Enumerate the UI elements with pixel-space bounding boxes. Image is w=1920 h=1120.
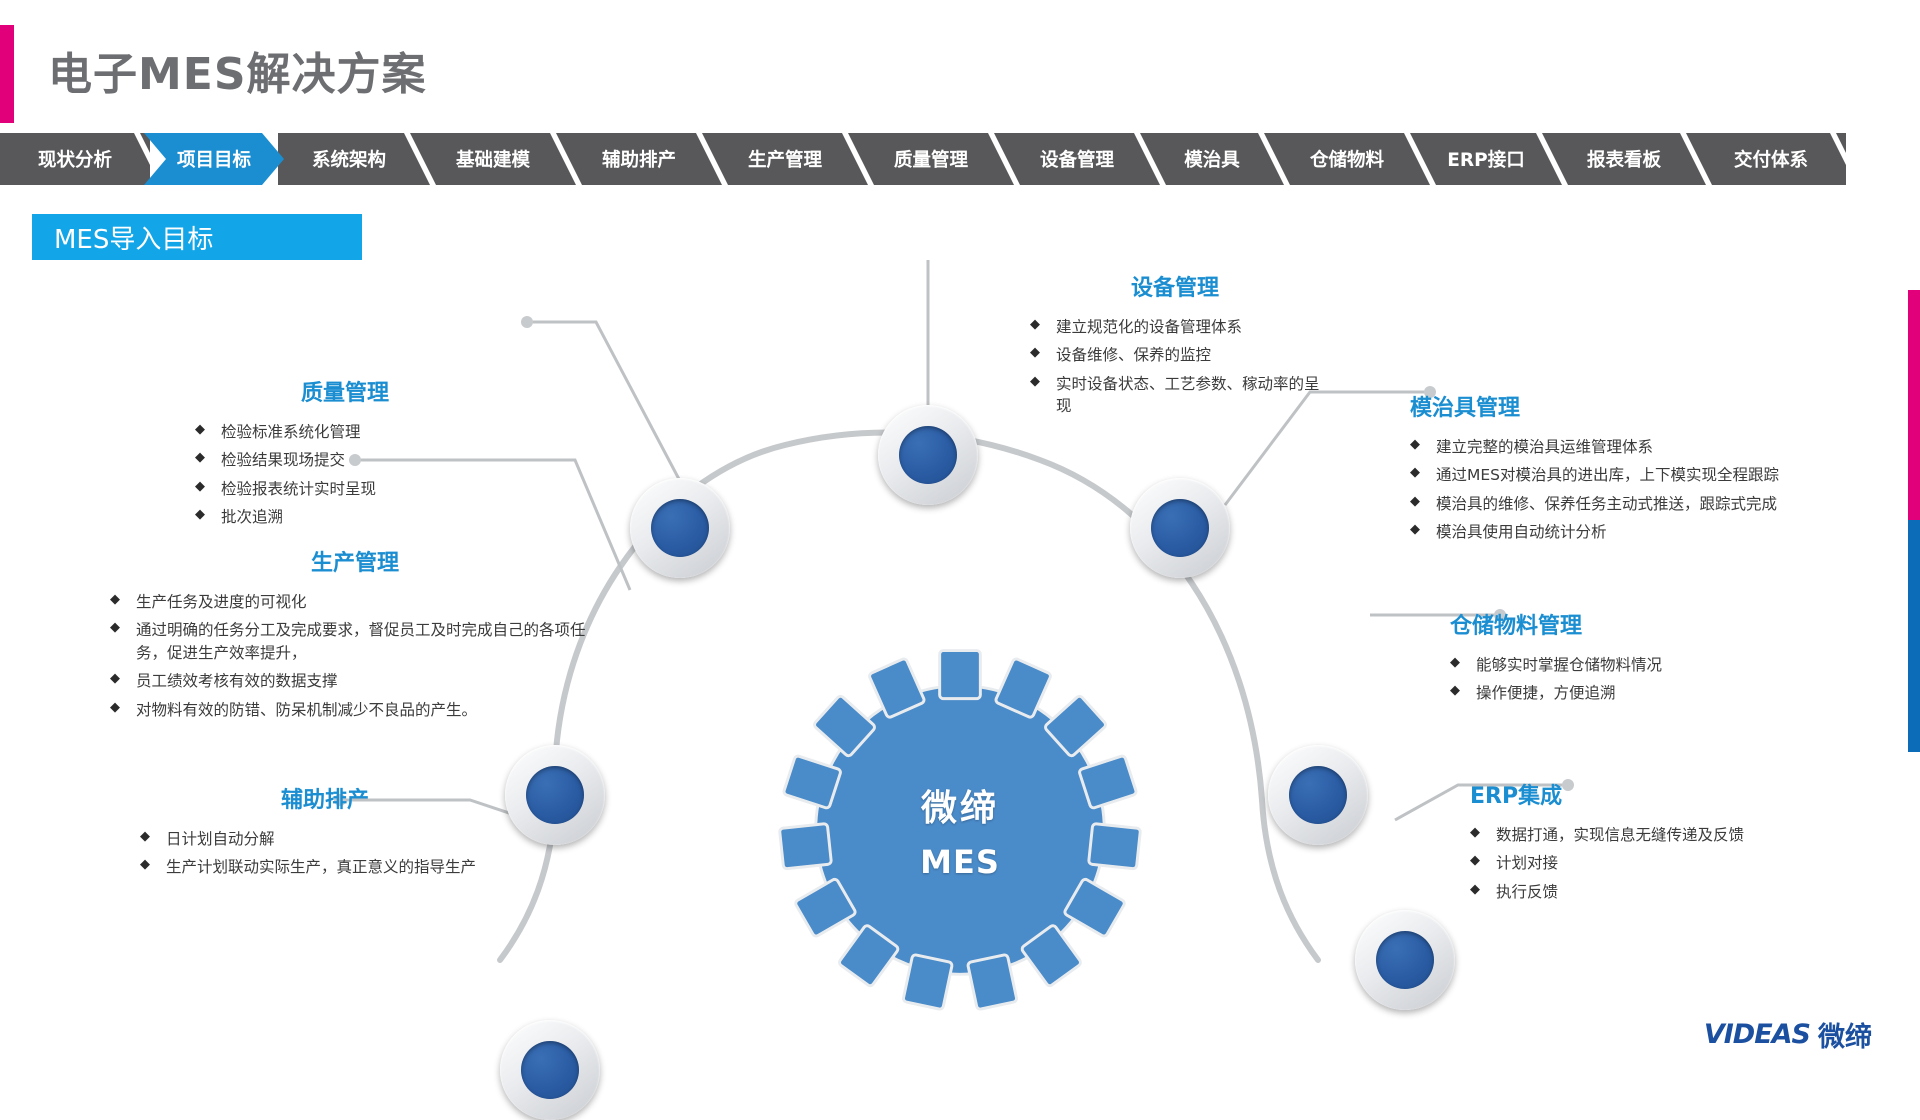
list-item: 实时设备状态、工艺参数、稼动率的呈现: [1030, 373, 1320, 418]
nav-item-8[interactable]: 模治具: [1150, 133, 1274, 185]
nav-item-2[interactable]: 系统架构: [278, 133, 420, 185]
list-item: 操作便捷，方便追溯: [1450, 682, 1850, 704]
list-item: 建立完整的模治具运维管理体系: [1410, 436, 1880, 458]
list-item: 通过明确的任务分工及完成要求，督促员工及时完成自己的各项任务，促进生产效率提升，: [110, 619, 600, 664]
center-gear: 微缔 MES: [775, 645, 1145, 1015]
list-item: 数据打通，实现信息无缝传递及反馈: [1470, 824, 1870, 846]
list-item: 对物料有效的防错、防呆机制减少不良品的产生。: [110, 699, 600, 721]
node-core: [526, 766, 584, 824]
callout-equipment: 设备管理 建立规范化的设备管理体系设备维修、保养的监控实时设备状态、工艺参数、稼…: [1030, 270, 1320, 424]
callout-erp: ERP集成 数据打通，实现信息无缝传递及反馈计划对接执行反馈: [1470, 778, 1870, 909]
nav-item-label: 系统架构: [306, 146, 392, 172]
nav-item-1[interactable]: 项目目标: [144, 133, 284, 185]
nav-end-cap: [1894, 133, 1920, 185]
nav-item-0[interactable]: 现状分析: [0, 133, 150, 185]
list-item: 通过MES对模治具的进出库，上下模实现全程跟踪: [1410, 464, 1880, 486]
nav-item-3[interactable]: 基础建模: [420, 133, 566, 185]
logo-cn: 微缔: [1818, 1015, 1872, 1054]
nav-item-label: 现状分析: [32, 146, 118, 172]
nav-item-10[interactable]: ERP接口: [1420, 133, 1552, 185]
center-label-line2: MES: [920, 843, 1000, 881]
node-core: [1289, 766, 1347, 824]
nav-item-5[interactable]: 生产管理: [712, 133, 858, 185]
list-item: 能够实时掌握仓储物料情况: [1450, 654, 1850, 676]
callout-scheduling: 辅助排产 日计划自动分解生产计划联动实际生产，真正意义的指导生产: [140, 782, 510, 885]
callout-title-production: 生产管理: [110, 545, 600, 577]
callout-list-scheduling: 日计划自动分解生产计划联动实际生产，真正意义的指导生产: [140, 828, 510, 879]
nav-item-label: ERP接口: [1441, 146, 1530, 172]
nav-item-9[interactable]: 仓储物料: [1274, 133, 1420, 185]
list-item: 设备维修、保养的监控: [1030, 344, 1320, 366]
callout-list-equipment: 建立规范化的设备管理体系设备维修、保养的监控实时设备状态、工艺参数、稼动率的呈现: [1030, 316, 1320, 418]
section-label: MES导入目标: [32, 214, 362, 260]
node-erp[interactable]: [1355, 910, 1455, 1010]
callout-title-quality: 质量管理: [195, 375, 495, 407]
callout-title-warehouse: 仓储物料管理: [1450, 608, 1850, 640]
list-item: 生产任务及进度的可视化: [110, 591, 600, 613]
list-item: 检验结果现场提交: [195, 449, 495, 471]
nav-item-label: 模治具: [1178, 146, 1246, 172]
nav-item-label: 基础建模: [450, 146, 536, 172]
page-title: 电子MES解决方案: [48, 38, 427, 102]
list-item: 检验报表统计实时呈现: [195, 478, 495, 500]
nav-item-11[interactable]: 报表看板: [1552, 133, 1696, 185]
node-core: [651, 499, 709, 557]
node-tooling[interactable]: [1130, 478, 1230, 578]
list-item: 模治具使用自动统计分析: [1410, 521, 1880, 543]
callout-list-production: 生产任务及进度的可视化通过明确的任务分工及完成要求，督促员工及时完成自己的各项任…: [110, 591, 600, 721]
nav-item-7[interactable]: 设备管理: [1004, 133, 1150, 185]
list-item: 建立规范化的设备管理体系: [1030, 316, 1320, 338]
callout-title-scheduling: 辅助排产: [140, 782, 510, 814]
node-core: [1376, 931, 1434, 989]
callout-title-tooling: 模治具管理: [1410, 390, 1880, 422]
list-item: 日计划自动分解: [140, 828, 510, 850]
nav-item-label: 辅助排产: [596, 146, 682, 172]
list-item: 批次追溯: [195, 506, 495, 528]
node-warehouse[interactable]: [1268, 745, 1368, 845]
nav-item-label: 仓储物料: [1304, 146, 1390, 172]
nav-item-4[interactable]: 辅助排产: [566, 133, 712, 185]
callout-tooling: 模治具管理 建立完整的模治具运维管理体系通过MES对模治具的进出库，上下模实现全…: [1410, 390, 1880, 550]
node-core: [899, 426, 957, 484]
callout-title-erp: ERP集成: [1470, 778, 1870, 810]
callout-list-quality: 检验标准系统化管理检验结果现场提交检验报表统计实时呈现批次追溯: [195, 421, 495, 529]
callout-list-erp: 数据打通，实现信息无缝传递及反馈计划对接执行反馈: [1470, 824, 1870, 903]
list-item: 员工绩效考核有效的数据支撑: [110, 670, 600, 692]
callout-quality: 质量管理 检验标准系统化管理检验结果现场提交检验报表统计实时呈现批次追溯: [195, 375, 495, 535]
node-scheduling[interactable]: [500, 1020, 600, 1120]
nav-item-label: 生产管理: [742, 146, 828, 172]
brand-logo: VIDEAS 微缔: [1704, 1015, 1872, 1054]
center-label-line1: 微缔: [921, 779, 999, 831]
callout-list-warehouse: 能够实时掌握仓储物料情况操作便捷，方便追溯: [1450, 654, 1850, 705]
callout-list-tooling: 建立完整的模治具运维管理体系通过MES对模治具的进出库，上下模实现全程跟踪模治具…: [1410, 436, 1880, 544]
node-production[interactable]: [505, 745, 605, 845]
nav-item-label: 报表看板: [1581, 146, 1667, 172]
nav-item-label: 交付体系: [1728, 146, 1814, 172]
list-item: 生产计划联动实际生产，真正意义的指导生产: [140, 856, 510, 878]
callout-title-equipment: 设备管理: [1030, 270, 1320, 302]
node-quality[interactable]: [630, 478, 730, 578]
node-equipment[interactable]: [878, 405, 978, 505]
nav-item-6[interactable]: 质量管理: [858, 133, 1004, 185]
node-core: [1151, 499, 1209, 557]
nav-item-label: 设备管理: [1034, 146, 1120, 172]
callout-production: 生产管理 生产任务及进度的可视化通过明确的任务分工及完成要求，督促员工及时完成自…: [110, 545, 600, 727]
list-item: 计划对接: [1470, 852, 1870, 874]
node-core: [521, 1041, 579, 1099]
logo-mark: VIDEAS: [1704, 1019, 1810, 1050]
nav-item-12[interactable]: 交付体系: [1696, 133, 1846, 185]
nav-item-label: 质量管理: [888, 146, 974, 172]
list-item: 检验标准系统化管理: [195, 421, 495, 443]
callout-warehouse: 仓储物料管理 能够实时掌握仓储物料情况操作便捷，方便追溯: [1450, 608, 1850, 711]
center-gear-label: 微缔 MES: [775, 645, 1145, 1015]
title-accent-bar: [0, 25, 14, 123]
chevron-nav[interactable]: 现状分析项目目标系统架构基础建模辅助排产生产管理质量管理设备管理模治具仓储物料E…: [0, 133, 1920, 185]
list-item: 执行反馈: [1470, 881, 1870, 903]
list-item: 模治具的维修、保养任务主动式推送，跟踪式完成: [1410, 493, 1880, 515]
nav-item-label: 项目目标: [171, 146, 257, 172]
